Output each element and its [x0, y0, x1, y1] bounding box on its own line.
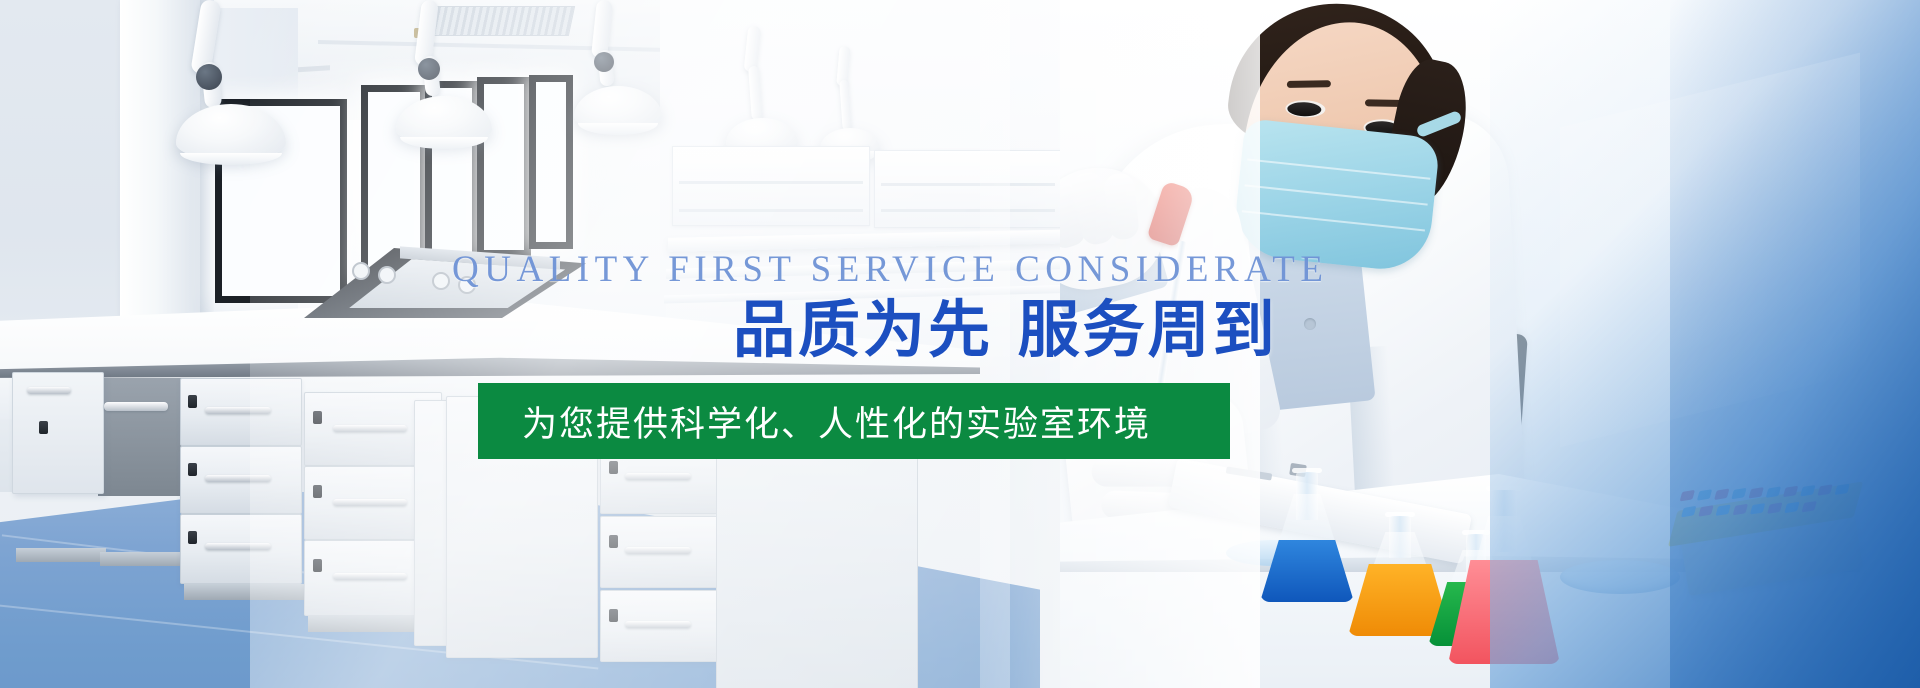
- lab-hero-banner: QUALITY FIRST SERVICE CONSIDERATE 品质为先 服…: [0, 0, 1920, 688]
- banner-text-overlay: QUALITY FIRST SERVICE CONSIDERATE 品质为先 服…: [0, 0, 1920, 688]
- banner-subheadline: 为您提供科学化、人性化的实验室环境: [522, 396, 1151, 447]
- english-tagline: QUALITY FIRST SERVICE CONSIDERATE: [452, 248, 1328, 291]
- banner-headline: 品质为先 服务周到: [733, 297, 1278, 362]
- subheadline-green-bar: 为您提供科学化、人性化的实验室环境: [478, 383, 1230, 459]
